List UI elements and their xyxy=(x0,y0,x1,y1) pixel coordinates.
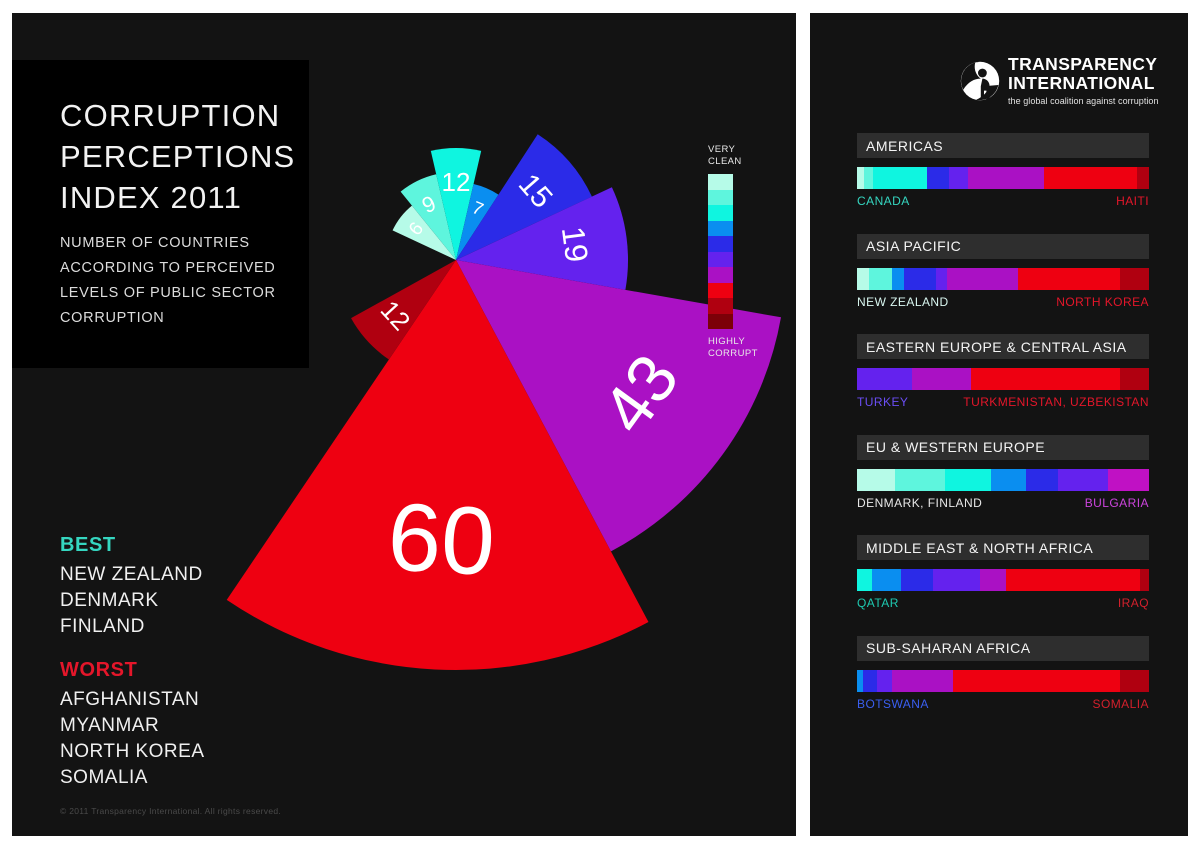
region-gradient-bar-4 xyxy=(857,569,1149,591)
region-bar-band-0 xyxy=(857,167,864,189)
scale-bottom-label-2: CORRUPT xyxy=(708,348,798,360)
region-footer-0: CANADAHAITI xyxy=(857,194,1149,208)
region-bar-band-2 xyxy=(901,569,933,591)
region-worst-country: SOMALIA xyxy=(1093,697,1150,711)
subtitle-line-3: LEVELS OF PUBLIC SECTOR xyxy=(60,281,309,306)
scale-gradient-bar xyxy=(708,174,733,329)
title-line-2: PERCEPTIONS xyxy=(60,136,309,177)
scale-band-5 xyxy=(708,252,733,268)
transparency-international-logo: TRANSPARENCY INTERNATIONAL the global co… xyxy=(960,55,1159,106)
region-worst-country: IRAQ xyxy=(1118,596,1149,610)
globe-person-icon xyxy=(960,61,1000,101)
scale-band-2 xyxy=(708,205,733,221)
worst-group: WORST AFGHANISTAN MYANMAR NORTH KOREA SO… xyxy=(60,656,320,791)
scale-band-8 xyxy=(708,298,733,314)
scale-band-9 xyxy=(708,314,733,330)
region-block-1: ASIA PACIFICNEW ZEALANDNORTH KOREA xyxy=(857,234,1149,309)
copyright-notice: © 2011 Transparency International. All r… xyxy=(60,806,281,816)
region-worst-country: HAITI xyxy=(1116,194,1149,208)
region-block-3: EU & WESTERN EUROPEDENMARK, FINLANDBULGA… xyxy=(857,435,1149,510)
region-bar-band-4 xyxy=(953,670,1119,692)
region-bar-band-3 xyxy=(904,268,936,290)
region-header-3: EU & WESTERN EUROPE xyxy=(857,435,1149,460)
subtitle-line-1: NUMBER OF COUNTRIES xyxy=(60,231,309,256)
region-bar-band-1 xyxy=(872,569,901,591)
region-bar-band-2 xyxy=(877,670,892,692)
region-name: EU & WESTERN EUROPE xyxy=(866,439,1045,455)
region-bar-band-6 xyxy=(1018,268,1120,290)
title-block: CORRUPTION PERCEPTIONS INDEX 2011 NUMBER… xyxy=(12,60,309,368)
region-block-5: SUB-SAHARAN AFRICABOTSWANASOMALIA xyxy=(857,636,1149,711)
region-block-0: AMERICASCANADAHAITI xyxy=(857,133,1149,208)
best-heading: BEST xyxy=(60,531,320,560)
worst-country-4: SOMALIA xyxy=(60,765,320,791)
region-footer-1: NEW ZEALANDNORTH KOREA xyxy=(857,295,1149,309)
region-bar-band-2 xyxy=(971,368,1120,390)
region-bar-band-7 xyxy=(1137,167,1149,189)
region-bar-band-4 xyxy=(1026,469,1058,491)
region-bar-band-4 xyxy=(936,268,948,290)
region-bar-band-5 xyxy=(1058,469,1108,491)
region-gradient-bar-1 xyxy=(857,268,1149,290)
region-bar-band-5 xyxy=(947,268,1017,290)
ranking-list: BEST NEW ZEALAND DENMARK FINLAND WORST A… xyxy=(60,531,320,791)
region-footer-5: BOTSWANASOMALIA xyxy=(857,697,1149,711)
title-line-1: CORRUPTION xyxy=(60,95,309,136)
region-best-country: TURKEY xyxy=(857,395,908,409)
region-worst-country: NORTH KOREA xyxy=(1056,295,1149,309)
region-gradient-bar-3 xyxy=(857,469,1149,491)
scale-band-1 xyxy=(708,190,733,206)
region-header-0: AMERICAS xyxy=(857,133,1149,158)
scale-top-label-2: CLEAN xyxy=(708,156,798,168)
region-bar-band-1 xyxy=(863,670,878,692)
region-best-country: BOTSWANA xyxy=(857,697,929,711)
region-best-country: CANADA xyxy=(857,194,910,208)
subtitle-line-4: CORRUPTION xyxy=(60,306,309,331)
scale-top-label-1: VERY xyxy=(708,144,798,156)
region-bar-band-0 xyxy=(857,569,872,591)
fan-segment-label-12-2: 12 xyxy=(442,167,471,197)
best-country-2: DENMARK xyxy=(60,588,320,614)
region-bar-band-3 xyxy=(927,167,949,189)
region-gradient-bar-5 xyxy=(857,670,1149,692)
scale-band-6 xyxy=(708,267,733,283)
region-name: SUB-SAHARAN AFRICA xyxy=(866,640,1031,656)
region-worst-country: BULGARIA xyxy=(1085,496,1149,510)
best-country-3: FINLAND xyxy=(60,614,320,640)
logo-tagline: the global coalition against corruption xyxy=(1008,96,1159,106)
worst-country-1: AFGHANISTAN xyxy=(60,687,320,713)
region-bar-band-6 xyxy=(1044,167,1137,189)
scale-bottom-label-1: HIGHLY xyxy=(708,336,798,348)
region-name: MIDDLE EAST & NORTH AFRICA xyxy=(866,540,1093,556)
region-bar-band-0 xyxy=(857,368,912,390)
region-bar-band-2 xyxy=(892,268,904,290)
region-bar-band-0 xyxy=(857,469,895,491)
region-block-4: MIDDLE EAST & NORTH AFRICAQATARIRAQ xyxy=(857,535,1149,610)
region-footer-2: TURKEYTURKMENISTAN, UZBEKISTAN xyxy=(857,395,1149,409)
region-bar-band-5 xyxy=(1006,569,1140,591)
worst-country-3: NORTH KOREA xyxy=(60,739,320,765)
region-header-2: EASTERN EUROPE & CENTRAL ASIA xyxy=(857,334,1149,359)
region-header-1: ASIA PACIFIC xyxy=(857,234,1149,259)
region-block-2: EASTERN EUROPE & CENTRAL ASIATURKEYTURKM… xyxy=(857,334,1149,409)
region-name: ASIA PACIFIC xyxy=(866,238,961,254)
region-name: AMERICAS xyxy=(866,138,943,154)
left-panel: 691271519436012 CORRUPTION PERCEPTIONS I… xyxy=(12,13,796,836)
fan-segment-label-19-5: 19 xyxy=(555,224,595,264)
region-bar-band-3 xyxy=(892,670,953,692)
scale-band-3 xyxy=(708,221,733,237)
right-panel: TRANSPARENCY INTERNATIONAL the global co… xyxy=(810,13,1188,836)
region-bar-band-2 xyxy=(873,167,927,189)
region-bar-band-0 xyxy=(857,268,869,290)
best-country-1: NEW ZEALAND xyxy=(60,562,320,588)
region-footer-4: QATARIRAQ xyxy=(857,596,1149,610)
region-best-country: DENMARK, FINLAND xyxy=(857,496,982,510)
region-bar-band-1 xyxy=(912,368,970,390)
region-worst-country: TURKMENISTAN, UZBEKISTAN xyxy=(963,395,1149,409)
scale-band-0 xyxy=(708,174,733,190)
region-bar-band-5 xyxy=(968,167,1044,189)
region-bar-band-7 xyxy=(1120,268,1149,290)
worst-heading: WORST xyxy=(60,656,320,685)
region-bar-band-6 xyxy=(1108,469,1149,491)
region-gradient-bar-0 xyxy=(857,167,1149,189)
region-gradient-bar-2 xyxy=(857,368,1149,390)
region-bar-band-1 xyxy=(895,469,945,491)
region-best-country: NEW ZEALAND xyxy=(857,295,949,309)
title-line-3: INDEX 2011 xyxy=(60,177,309,218)
region-header-5: SUB-SAHARAN AFRICA xyxy=(857,636,1149,661)
title-subtitle: NUMBER OF COUNTRIES ACCORDING TO PERCEIV… xyxy=(60,231,309,331)
region-bar-band-6 xyxy=(1140,569,1149,591)
region-bar-band-5 xyxy=(1120,670,1149,692)
region-bar-band-2 xyxy=(945,469,992,491)
scale-band-7 xyxy=(708,283,733,299)
region-bar-band-3 xyxy=(933,569,980,591)
region-bar-band-1 xyxy=(869,268,892,290)
logo-line-1: TRANSPARENCY xyxy=(1008,55,1159,74)
logo-line-2: INTERNATIONAL xyxy=(1008,74,1159,93)
fan-segment-label-60-7: 60 xyxy=(385,483,497,595)
worst-country-2: MYANMAR xyxy=(60,713,320,739)
regions-list: AMERICASCANADAHAITIASIA PACIFICNEW ZEALA… xyxy=(857,133,1149,736)
infographic-root: 691271519436012 CORRUPTION PERCEPTIONS I… xyxy=(0,0,1200,849)
region-footer-3: DENMARK, FINLANDBULGARIA xyxy=(857,496,1149,510)
region-bar-band-4 xyxy=(980,569,1006,591)
subtitle-line-2: ACCORDING TO PERCEIVED xyxy=(60,256,309,281)
region-bar-band-1 xyxy=(864,167,873,189)
scale-band-4 xyxy=(708,236,733,252)
region-best-country: QATAR xyxy=(857,596,899,610)
region-header-4: MIDDLE EAST & NORTH AFRICA xyxy=(857,535,1149,560)
color-scale-legend: VERY CLEAN HIGHLY CORRUPT xyxy=(708,144,798,359)
region-bar-band-3 xyxy=(991,469,1026,491)
region-bar-band-3 xyxy=(1120,368,1149,390)
region-name: EASTERN EUROPE & CENTRAL ASIA xyxy=(866,339,1127,355)
region-bar-band-4 xyxy=(949,167,968,189)
logo-wordmark: TRANSPARENCY INTERNATIONAL the global co… xyxy=(1008,55,1159,106)
